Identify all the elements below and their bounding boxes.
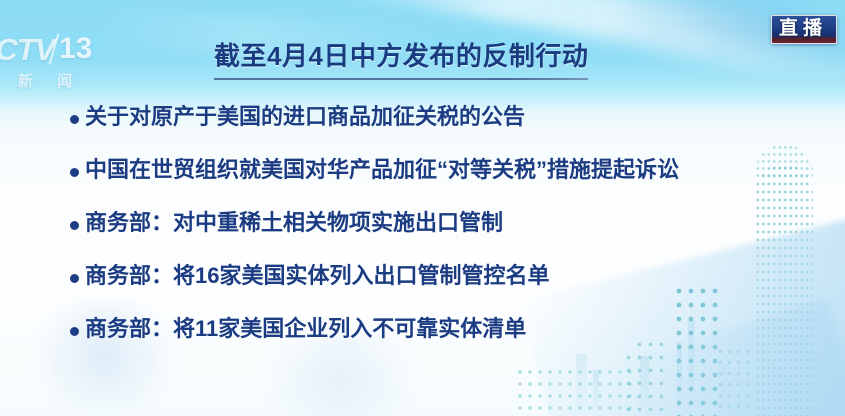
bullet-dot-icon <box>70 168 79 177</box>
countermeasures-list: 关于对原产于美国的进口商品加征关税的公告 中国在世贸组织就美国对华产品加征“对等… <box>70 104 830 369</box>
bullet-dot-icon <box>70 327 79 336</box>
bullet-dot-icon <box>70 221 79 230</box>
channel-number: 13 <box>59 32 92 66</box>
list-item-label: 关于对原产于美国的进口商品加征关税的公告 <box>85 104 525 130</box>
list-item-label: 商务部：将11家美国企业列入不可靠实体清单 <box>85 316 526 342</box>
cctv-wordmark: CCTV <box>0 32 54 68</box>
live-badge-label: 直播 <box>779 19 829 38</box>
list-item: 商务部：将11家美国企业列入不可靠实体清单 <box>70 316 830 369</box>
page-title: 截至4月4日中方发布的反制行动 <box>214 42 588 71</box>
bullet-dot-icon <box>70 115 79 124</box>
bullet-dot-icon <box>70 274 79 283</box>
broadcast-graphic: CCTV 13 新 闻 直播 截至4月4日中方发布的反制行动 关于对原产于美国的… <box>0 0 845 416</box>
live-badge: 直播 <box>771 15 837 44</box>
channel-subtitle: 新 闻 <box>18 70 82 91</box>
list-item: 关于对原产于美国的进口商品加征关税的公告 <box>70 104 830 157</box>
list-item-label: 商务部：对中重稀土相关物项实施出口管制 <box>85 210 503 236</box>
list-item: 商务部：对中重稀土相关物项实施出口管制 <box>70 210 830 263</box>
list-item-label: 商务部：将16家美国实体列入出口管制管控名单 <box>85 263 549 289</box>
list-item: 中国在世贸组织就美国对华产品加征“对等关税”措施提起诉讼 <box>70 157 830 210</box>
logo-main-row: CCTV 13 <box>0 32 114 70</box>
headline-underline <box>214 78 588 80</box>
headline-block: 截至4月4日中方发布的反制行动 <box>214 42 588 80</box>
list-item: 商务部：将16家美国实体列入出口管制管控名单 <box>70 263 830 316</box>
list-item-label: 中国在世贸组织就美国对华产品加征“对等关税”措施提起诉讼 <box>85 157 679 183</box>
cctv13-channel-logo: CCTV 13 新 闻 <box>0 32 114 94</box>
